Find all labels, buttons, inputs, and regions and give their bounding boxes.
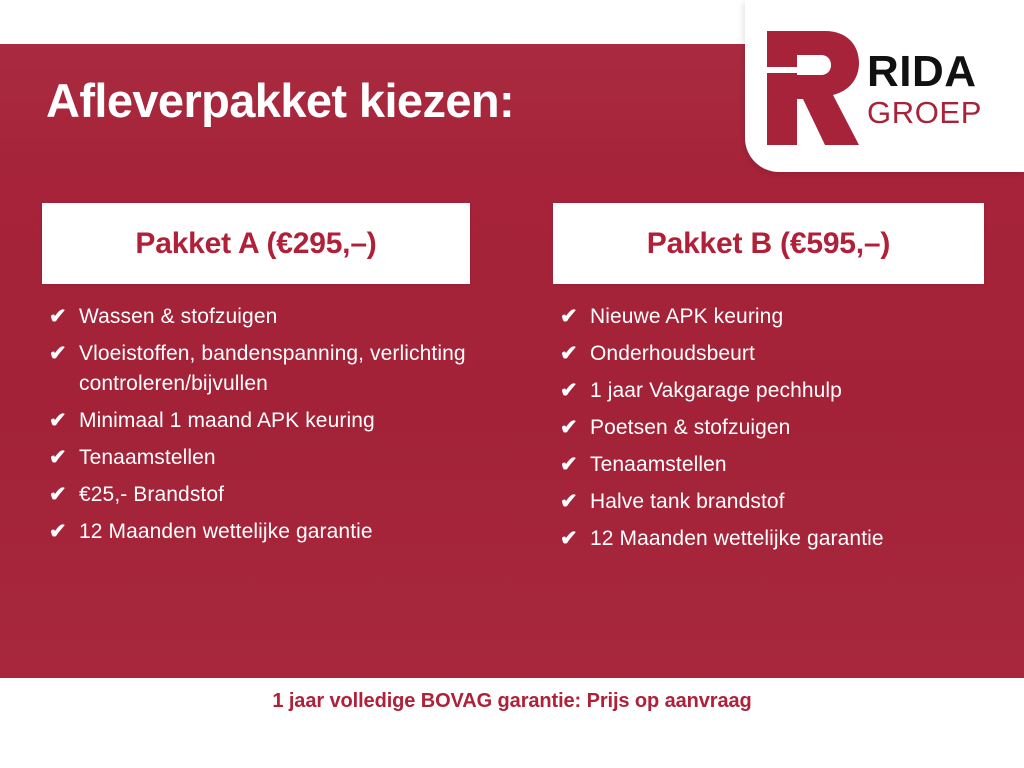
list-item: ✔ Wassen & stofzuigen	[44, 302, 470, 332]
check-icon: ✔	[555, 302, 590, 332]
list-item: ✔ Halve tank brandstof	[555, 487, 984, 517]
logo-secondary-text: GROEP	[867, 97, 982, 128]
package-a-feature-list: ✔ Wassen & stofzuigen ✔ Vloeistoffen, ba…	[42, 284, 470, 547]
feature-label: 12 Maanden wettelijke garantie	[79, 517, 373, 547]
package-card-b[interactable]: Pakket B (€595,–) ✔ Nieuwe APK keuring ✔…	[553, 203, 984, 561]
package-b-title: Pakket B (€595,–)	[647, 227, 890, 261]
check-icon: ✔	[44, 517, 79, 547]
list-item: ✔ Nieuwe APK keuring	[555, 302, 984, 332]
list-item: ✔ 1 jaar Vakgarage pechhulp	[555, 376, 984, 406]
check-icon: ✔	[44, 406, 79, 436]
list-item: ✔ Vloeistoffen, bandenspanning, verlicht…	[44, 339, 470, 399]
check-icon: ✔	[555, 450, 590, 480]
feature-label: Halve tank brandstof	[590, 487, 785, 517]
list-item: ✔ Poetsen & stofzuigen	[555, 413, 984, 443]
list-item: ✔ Minimaal 1 maand APK keuring	[44, 406, 470, 436]
feature-label: Minimaal 1 maand APK keuring	[79, 406, 375, 436]
check-icon: ✔	[555, 524, 590, 554]
logo-primary-text: RIDA	[867, 50, 982, 94]
check-icon: ✔	[555, 413, 590, 443]
list-item: ✔ Tenaamstellen	[555, 450, 984, 480]
package-a-title: Pakket A (€295,–)	[135, 227, 376, 261]
feature-label: Poetsen & stofzuigen	[590, 413, 790, 443]
check-icon: ✔	[555, 339, 590, 369]
list-item: ✔ 12 Maanden wettelijke garantie	[555, 524, 984, 554]
check-icon: ✔	[44, 480, 79, 510]
feature-label: Vloeistoffen, bandenspanning, verlichtin…	[79, 339, 470, 399]
feature-label: Onderhoudsbeurt	[590, 339, 755, 369]
package-a-header: Pakket A (€295,–)	[42, 203, 470, 284]
feature-label: Nieuwe APK keuring	[590, 302, 783, 332]
check-icon: ✔	[44, 443, 79, 473]
rida-r-mark-icon	[763, 29, 861, 147]
list-item: ✔ 12 Maanden wettelijke garantie	[44, 517, 470, 547]
slide-root: Afleverpakket kiezen: RIDA GROEP Pakket …	[0, 0, 1024, 768]
footer-bar: 1 jaar volledige BOVAG garantie: Prijs o…	[0, 678, 1024, 768]
package-b-header: Pakket B (€595,–)	[553, 203, 984, 284]
check-icon: ✔	[44, 302, 79, 332]
feature-label: €25,- Brandstof	[79, 480, 224, 510]
check-icon: ✔	[555, 487, 590, 517]
feature-label: 1 jaar Vakgarage pechhulp	[590, 376, 842, 406]
feature-label: Tenaamstellen	[79, 443, 216, 473]
footer-note: 1 jaar volledige BOVAG garantie: Prijs o…	[272, 690, 751, 713]
check-icon: ✔	[555, 376, 590, 406]
list-item: ✔ Tenaamstellen	[44, 443, 470, 473]
feature-label: Tenaamstellen	[590, 450, 727, 480]
feature-label: Wassen & stofzuigen	[79, 302, 277, 332]
list-item: ✔ €25,- Brandstof	[44, 480, 470, 510]
package-card-a[interactable]: Pakket A (€295,–) ✔ Wassen & stofzuigen …	[42, 203, 470, 554]
package-b-feature-list: ✔ Nieuwe APK keuring ✔ Onderhoudsbeurt ✔…	[553, 284, 984, 554]
logo-wordmark: RIDA GROEP	[867, 48, 982, 128]
check-icon: ✔	[44, 339, 79, 369]
feature-label: 12 Maanden wettelijke garantie	[590, 524, 884, 554]
logo-plate: RIDA GROEP	[745, 0, 1024, 172]
logo: RIDA GROEP	[763, 26, 1013, 150]
list-item: ✔ Onderhoudsbeurt	[555, 339, 984, 369]
page-title: Afleverpakket kiezen:	[46, 76, 514, 125]
